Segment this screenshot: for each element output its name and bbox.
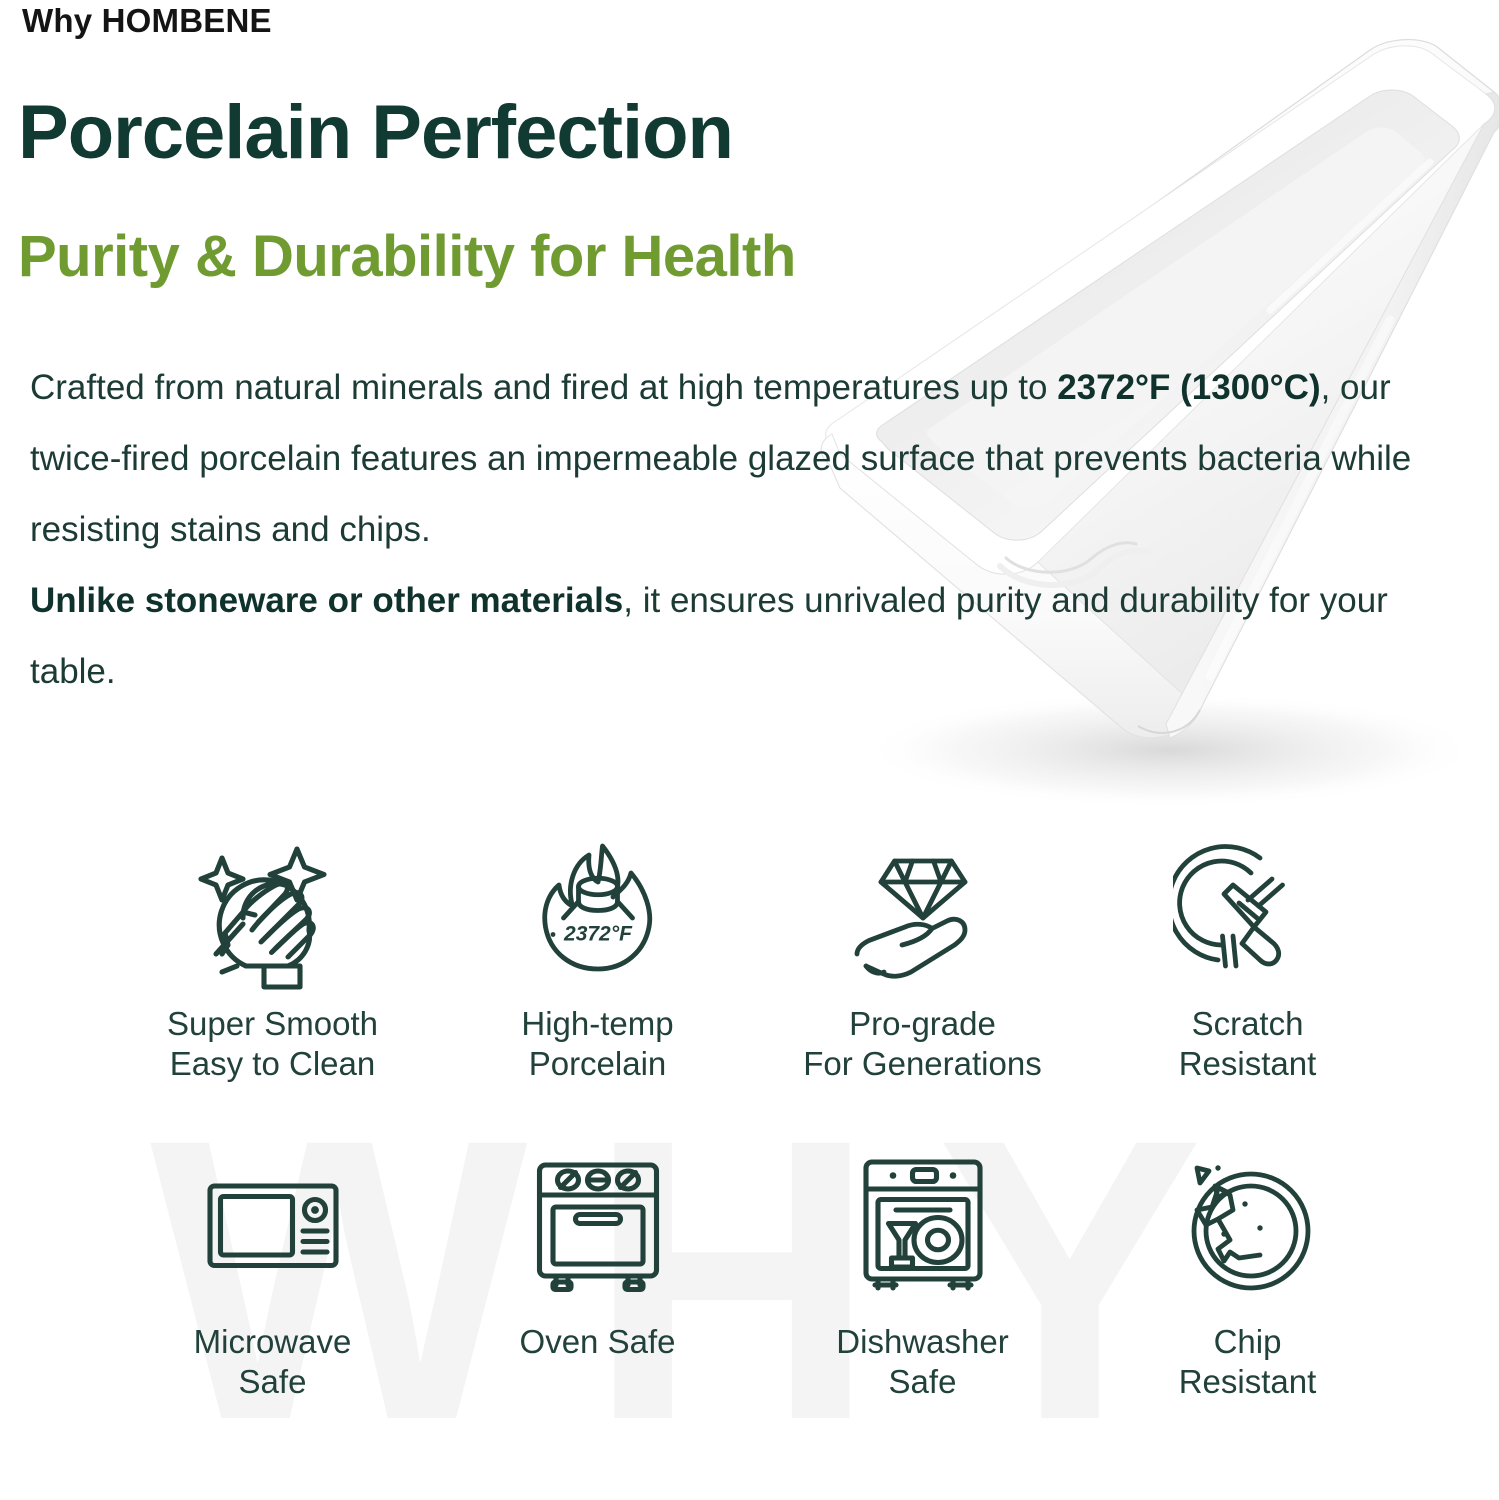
- cracked-plate-icon: [1173, 1150, 1323, 1300]
- feature-label: Scratch Resistant: [1179, 1004, 1317, 1084]
- body-paragraph-1: Crafted from natural minerals and fired …: [30, 352, 1430, 565]
- feature-label: Super Smooth Easy to Clean: [167, 1004, 378, 1084]
- sparkle-wipe-icon: [198, 840, 348, 990]
- feature-item-chip-resistant: Chip Resistant: [1085, 1150, 1410, 1400]
- flame-temperature-icon: 2372°F: [523, 840, 673, 990]
- microwave-icon: [198, 1150, 348, 1300]
- feature-label: Oven Safe: [520, 1322, 676, 1362]
- feature-item-scratch-resistant: Scratch Resistant: [1085, 840, 1410, 1080]
- oven-icon: [523, 1150, 673, 1300]
- diamond-in-hand-icon: [848, 840, 998, 990]
- body-paragraph-2: Unlike stoneware or other materials, it …: [30, 565, 1430, 707]
- body-p2-lead: Unlike stoneware or other materials: [30, 581, 623, 620]
- page-subtitle: Purity & Durability for Health: [18, 228, 796, 286]
- body-copy: Crafted from natural minerals and fired …: [30, 352, 1430, 707]
- brand-eyebrow: Why HOMBENE: [22, 2, 272, 40]
- feature-item-pro-grade: Pro-grade For Generations: [760, 840, 1085, 1080]
- feature-item-super-smooth: Super Smooth Easy to Clean: [110, 840, 435, 1080]
- feature-label: Microwave Safe: [194, 1322, 352, 1402]
- feature-item-dishwasher-safe: Dishwasher Safe: [760, 1150, 1085, 1400]
- feature-label: Chip Resistant: [1179, 1322, 1317, 1402]
- page-title: Porcelain Perfection: [18, 95, 733, 171]
- flame-temperature-text: 2372°F: [563, 923, 633, 946]
- feature-label: Pro-grade For Generations: [803, 1004, 1041, 1084]
- feature-item-microwave-safe: Microwave Safe: [110, 1150, 435, 1400]
- knife-scratch-plate-icon: [1173, 840, 1323, 990]
- feature-label: Dishwasher Safe: [836, 1322, 1008, 1402]
- infographic-page: WHY: [0, 0, 1499, 1500]
- feature-label: High-temp Porcelain: [521, 1004, 673, 1084]
- feature-item-oven-safe: Oven Safe: [435, 1150, 760, 1400]
- feature-item-high-temp: 2372°F High-temp Porcelain: [435, 840, 760, 1080]
- feature-icon-grid: Super Smooth Easy to Clean 2372°F: [110, 840, 1410, 1400]
- body-p1-temperature: 2372°F (1300°C): [1057, 368, 1320, 407]
- body-p1-pre: Crafted from natural minerals and fired …: [30, 368, 1057, 407]
- dishwasher-icon: [848, 1150, 998, 1300]
